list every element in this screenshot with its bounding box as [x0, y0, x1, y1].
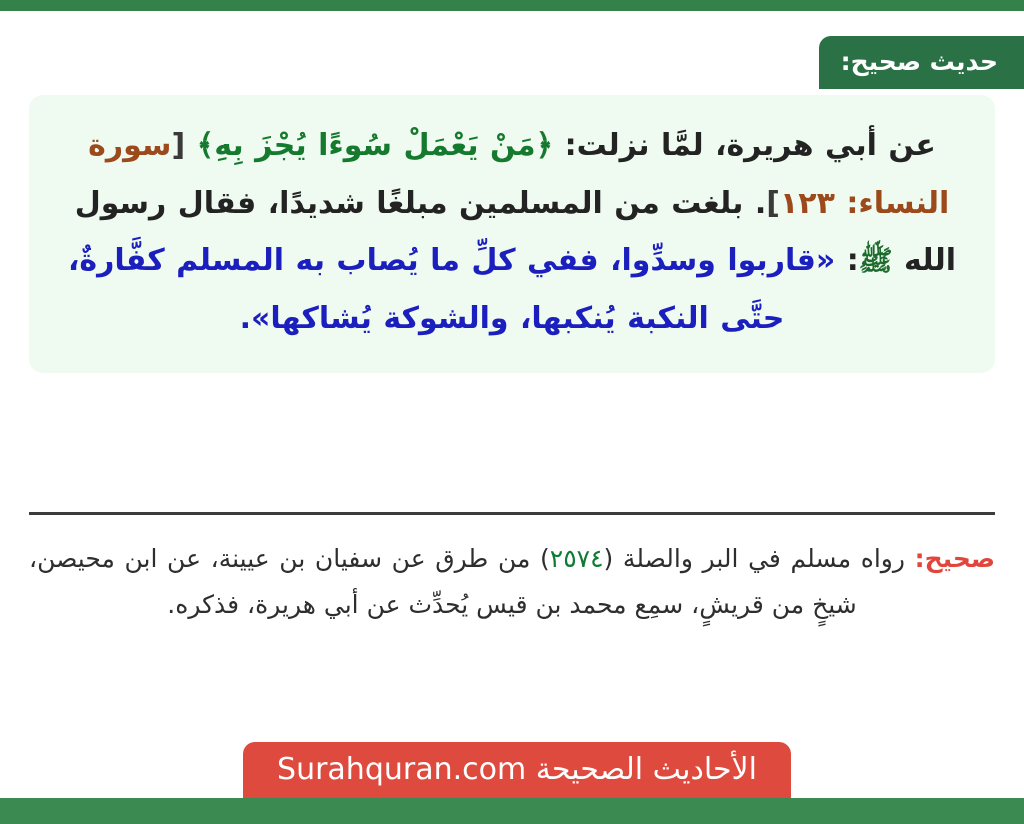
reference-paren-close: ) — [540, 544, 550, 573]
hadith-quote-text: عن أبي هريرة، لمَّا نزلت: ﴿مَنْ يَعْمَلْ… — [55, 117, 969, 347]
hadith-grade-badge: حديث صحيح: — [819, 36, 1024, 89]
top-decorative-bar — [0, 0, 1024, 11]
bottom-decorative-bar — [0, 798, 1024, 824]
hadith-quote-panel: عن أبي هريرة، لمَّا نزلت: ﴿مَنْ يَعْمَلْ… — [29, 95, 995, 373]
quran-verse-text: مَنْ يَعْمَلْ سُوءًا يُجْزَ بِهِ — [214, 128, 535, 163]
grade-label: صحيح: — [915, 544, 995, 573]
takhrij-text-before-number: رواه مسلم في البر والصلة — [623, 544, 905, 573]
quote-intro-text: عن أبي هريرة، لمَّا نزلت: — [565, 128, 936, 163]
verse-open-ornament-icon: ﴿ — [536, 128, 554, 163]
source-bracket-open: [ — [171, 128, 185, 163]
quote-colon: : — [847, 243, 859, 278]
reference-paren-open: ( — [604, 544, 614, 573]
site-link-button[interactable]: الأحاديث الصحيحة Surahquran.com — [243, 742, 791, 798]
hadith-reference-number: ٢٥٧٤ — [550, 544, 604, 573]
salla-allahu-alayhi-wasallam-icon: ﷺ — [859, 244, 893, 277]
verse-close-ornament-icon: ﴾ — [197, 128, 215, 163]
hadith-body-text: «قاربوا وسدِّوا، ففي كلِّ ما يُصاب به ال… — [68, 243, 835, 336]
takhrij-paragraph: صحيح: رواه مسلم في البر والصلة (٢٥٧٤) من… — [29, 536, 995, 629]
section-divider — [29, 512, 995, 515]
source-bracket-close: ] — [766, 186, 780, 221]
